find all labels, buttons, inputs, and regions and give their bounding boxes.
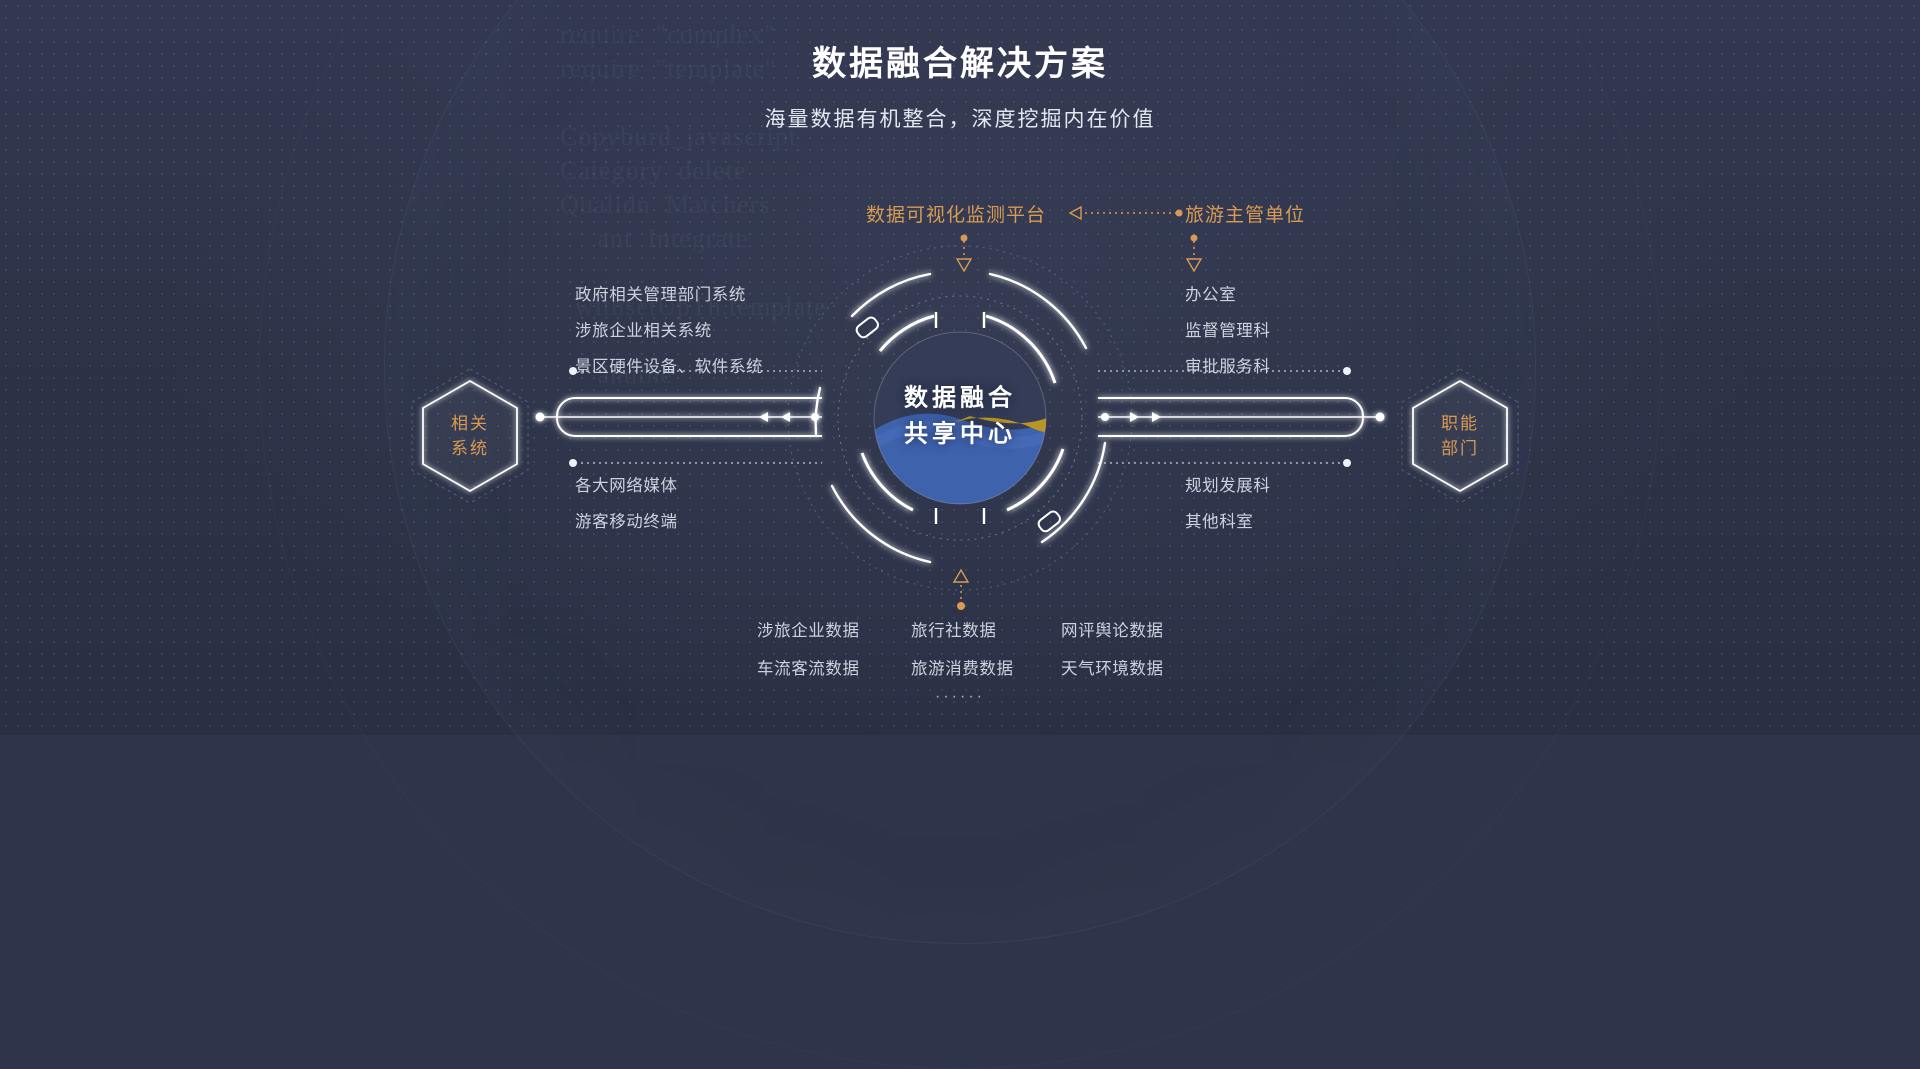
left-item-network-media[interactable]: 各大网络媒体: [575, 472, 678, 496]
left-item-tourism-enterprise-systems[interactable]: 涉旅企业相关系统: [575, 317, 712, 341]
bottom-item-enterprise-data[interactable]: 涉旅企业数据: [757, 617, 860, 641]
bottom-ellipsis: ······: [0, 688, 1920, 706]
center-line2: 共享中心: [780, 417, 1140, 453]
hexagon-related-systems[interactable]: 相关 系统: [408, 367, 532, 505]
hexagon-left-line1: 相关: [451, 411, 489, 436]
hexagon-right-line2: 部门: [1441, 436, 1479, 461]
hexagon-right-text: 职能 部门: [1398, 367, 1522, 505]
left-item-tourist-mobile-terminal[interactable]: 游客移动终端: [575, 508, 678, 532]
top-horizontal-dotted-arrow: [1070, 207, 1183, 219]
right-item-office[interactable]: 办公室: [1185, 281, 1236, 305]
left-item-government-systems[interactable]: 政府相关管理部门系统: [575, 281, 746, 305]
authority-down-arrow: [1187, 235, 1201, 272]
right-bracket-connector: [1098, 398, 1385, 436]
label-tourism-authority[interactable]: 旅游主管单位: [1185, 200, 1305, 227]
bottom-item-weather-environment-data[interactable]: 天气环境数据: [1061, 655, 1164, 679]
right-item-planning-development[interactable]: 规划发展科: [1185, 472, 1271, 496]
diagram-stage: 数据可视化监测平台 旅游主管单位 政府相关管理部门系统 涉旅企业相关系统 景区硬…: [0, 0, 1920, 735]
hexagon-right-line1: 职能: [1441, 411, 1479, 436]
hexagon-left-text: 相关 系统: [408, 367, 532, 505]
bottom-item-traffic-flow-data[interactable]: 车流客流数据: [757, 655, 860, 679]
label-data-visualization-platform[interactable]: 数据可视化监测平台: [866, 200, 1046, 227]
bottom-item-online-review-data[interactable]: 网评舆论数据: [1061, 617, 1164, 641]
bottom-item-travel-agency-data[interactable]: 旅行社数据: [911, 617, 997, 641]
right-item-other-departments[interactable]: 其他科室: [1185, 508, 1253, 532]
right-item-supervision-department[interactable]: 监督管理科: [1185, 317, 1271, 341]
right-item-approval-service-department[interactable]: 审批服务科: [1185, 353, 1271, 377]
center-hub-text: 数据融合 共享中心: [780, 381, 1140, 453]
bottom-item-tourism-consumption-data[interactable]: 旅游消费数据: [911, 655, 1014, 679]
center-hub[interactable]: 数据融合 共享中心: [780, 238, 1140, 598]
left-item-scenic-hardware-software[interactable]: 景区硬件设备、软件系统: [575, 353, 763, 377]
hexagon-left-line2: 系统: [451, 436, 489, 461]
center-line1: 数据融合: [780, 381, 1140, 417]
hexagon-functional-departments[interactable]: 职能 部门: [1398, 367, 1522, 505]
